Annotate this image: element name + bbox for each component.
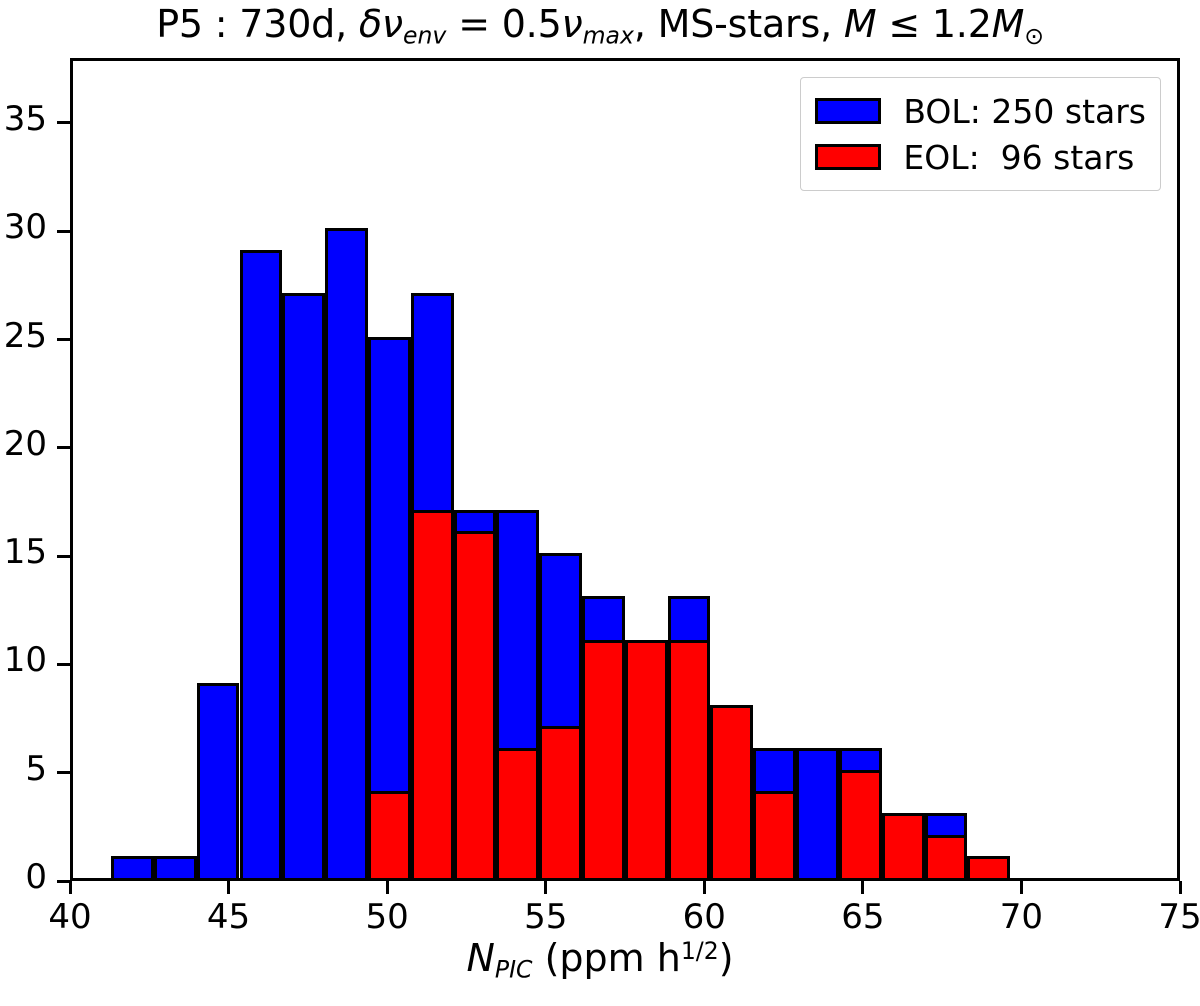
x-tick-label: 45	[207, 897, 250, 937]
legend: BOL: 250 starsEOL: 96 stars	[800, 77, 1161, 191]
x-tick-mark	[386, 881, 389, 894]
title-delta-nu: δν	[359, 2, 403, 46]
histogram-bar	[368, 791, 411, 878]
y-tick-mark	[57, 663, 70, 666]
y-tick-mark	[57, 446, 70, 449]
xlabel-exponent: 1/2	[681, 937, 719, 965]
title-nu: ν	[562, 2, 583, 46]
histogram-bar	[796, 748, 839, 878]
histogram-bar	[668, 640, 711, 878]
x-tick-mark	[861, 881, 864, 894]
histogram-bar	[753, 791, 796, 878]
histogram-bar	[111, 856, 154, 878]
y-tick-label: 10	[0, 640, 47, 680]
histogram-bar	[925, 835, 968, 878]
x-tick-mark	[703, 881, 706, 894]
xlabel-unit-open: (ppm h	[532, 936, 680, 980]
title-leq: ≤ 1.2	[876, 2, 991, 46]
legend-swatch-icon	[815, 144, 881, 170]
x-axis: 4045505560657075	[70, 881, 1180, 941]
histogram-bar	[240, 250, 283, 878]
y-tick-label: 15	[0, 532, 47, 572]
histogram-bar	[967, 856, 1010, 878]
x-tick-mark	[1020, 881, 1023, 894]
y-tick-mark	[57, 121, 70, 124]
y-tick-label: 5	[0, 749, 47, 789]
title-mass-unit: M	[992, 2, 1025, 46]
histogram-bar	[710, 705, 753, 878]
histogram-bar	[411, 510, 454, 878]
y-axis: 05101520253035	[0, 58, 70, 881]
title-sub-max: max	[583, 22, 634, 50]
xlabel-subscript: PIC	[495, 956, 533, 984]
xlabel-unit-close: )	[719, 936, 734, 980]
y-tick-label: 0	[0, 857, 47, 897]
page-title: P5 : 730d, δνenv = 0.5νmax, MS-stars, M …	[0, 2, 1200, 50]
histogram-bar	[882, 813, 925, 878]
title-equals: = 0.5	[446, 2, 561, 46]
x-tick-mark	[69, 881, 72, 894]
histogram-bar	[197, 683, 240, 878]
legend-swatch-icon	[815, 98, 881, 124]
histogram-bar	[454, 531, 497, 878]
histogram-bar	[154, 856, 197, 878]
x-tick-mark	[227, 881, 230, 894]
histogram-bar	[839, 770, 882, 878]
xlabel-symbol: N	[466, 936, 494, 980]
y-tick-label: 20	[0, 424, 47, 464]
x-tick-mark	[1179, 881, 1182, 894]
y-tick-label: 35	[0, 99, 47, 139]
y-tick-mark	[57, 771, 70, 774]
x-tick-label: 50	[366, 897, 409, 937]
x-tick-label: 60	[683, 897, 726, 937]
legend-label: EOL: 96 stars	[903, 138, 1134, 177]
x-tick-label: 40	[48, 897, 91, 937]
x-axis-label: NPIC (ppm h1/2)	[0, 936, 1200, 984]
y-tick-mark	[57, 338, 70, 341]
histogram-figure: P5 : 730d, δνenv = 0.5νmax, MS-stars, M …	[0, 0, 1200, 1006]
x-tick-label: 55	[524, 897, 567, 937]
y-tick-label: 25	[0, 316, 47, 356]
y-tick-mark	[57, 555, 70, 558]
title-middle: , MS-stars,	[634, 2, 844, 46]
histogram-bar	[582, 640, 625, 878]
histogram-bar	[625, 640, 668, 878]
legend-item[interactable]: EOL: 96 stars	[815, 134, 1146, 180]
x-tick-label: 75	[1158, 897, 1200, 937]
legend-item[interactable]: BOL: 250 stars	[815, 88, 1146, 134]
title-prefix: P5 : 730d,	[156, 2, 359, 46]
histogram-bar	[282, 293, 325, 878]
x-tick-label: 65	[841, 897, 884, 937]
histogram-bar	[539, 726, 582, 878]
sun-symbol-icon: ⊙	[1024, 22, 1044, 50]
y-tick-label: 30	[0, 207, 47, 247]
legend-label: BOL: 250 stars	[903, 92, 1146, 131]
y-tick-mark	[57, 230, 70, 233]
plot-frame: BOL: 250 starsEOL: 96 stars	[70, 58, 1180, 881]
x-tick-label: 70	[1000, 897, 1043, 937]
x-tick-mark	[544, 881, 547, 894]
histogram-bar	[325, 228, 368, 878]
histogram-bar	[496, 748, 539, 878]
title-sub-env: env	[403, 22, 446, 50]
title-mass-symbol: M	[844, 2, 877, 46]
